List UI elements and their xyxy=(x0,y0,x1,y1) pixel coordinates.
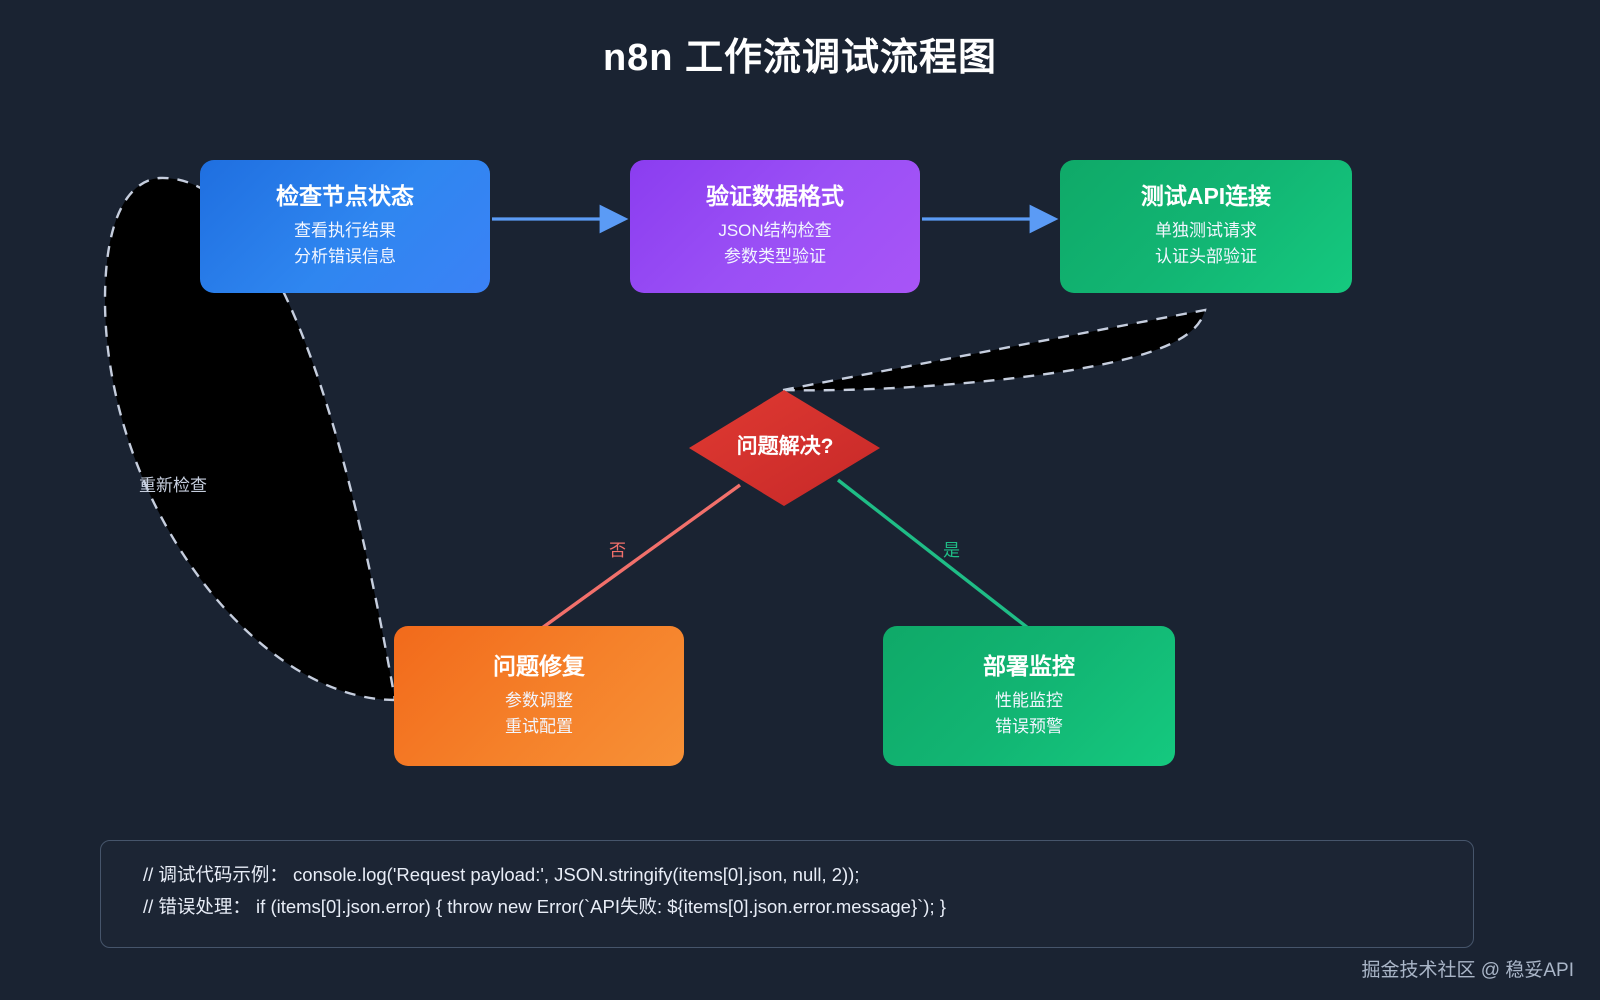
node-title: 测试API连接 xyxy=(1141,182,1271,211)
node-detail-line: 单独测试请求 xyxy=(1155,218,1257,244)
code-example-panel: // 调试代码示例： console.log('Request payload:… xyxy=(100,840,1474,948)
decision-diamond-label: 问题解决? xyxy=(690,430,880,460)
node-detail-line: 参数类型验证 xyxy=(724,244,826,270)
edge-yes-decision-to-deploy xyxy=(838,480,1028,628)
node-detail-line: 参数调整 xyxy=(505,688,573,714)
node-test-api-connection[interactable]: 测试API连接 单独测试请求 认证头部验证 xyxy=(1060,160,1352,293)
node-title: 检查节点状态 xyxy=(276,182,414,211)
edge-label-yes: 是 xyxy=(943,536,960,561)
edge-no-decision-to-fix xyxy=(542,485,740,628)
node-detail-line: 性能监控 xyxy=(995,688,1063,714)
node-detail-line: 重试配置 xyxy=(505,714,573,740)
edge-label-no: 否 xyxy=(609,536,626,561)
code-line-error-handling: // 错误处理： if (items[0].json.error) { thro… xyxy=(143,891,1431,923)
node-title: 问题修复 xyxy=(493,652,585,681)
node-check-node-status[interactable]: 检查节点状态 查看执行结果 分析错误信息 xyxy=(200,160,490,293)
node-detail-line: JSON结构检查 xyxy=(718,218,831,244)
node-validate-data-format[interactable]: 验证数据格式 JSON结构检查 参数类型验证 xyxy=(630,160,920,293)
edge-label-recheck: 重新检查 xyxy=(139,471,207,496)
watermark-text: 掘金技术社区 @ 稳妥API xyxy=(1362,955,1574,982)
node-title: 验证数据格式 xyxy=(706,182,844,211)
code-line-debug-example: // 调试代码示例： console.log('Request payload:… xyxy=(143,859,1431,891)
node-detail-line: 认证头部验证 xyxy=(1155,244,1257,270)
node-title: 部署监控 xyxy=(983,652,1075,681)
node-detail-line: 查看执行结果 xyxy=(294,218,396,244)
node-deploy-monitoring[interactable]: 部署监控 性能监控 错误预警 xyxy=(883,626,1175,766)
diagram-canvas: n8n 工作流调试流程图 检查节点状态 查看执行结果 分析错误信息 xyxy=(0,0,1600,1000)
node-detail-line: 分析错误信息 xyxy=(294,244,396,270)
node-problem-fix[interactable]: 问题修复 参数调整 重试配置 xyxy=(394,626,684,766)
node-detail-line: 错误预警 xyxy=(995,714,1063,740)
feedback-loop-right-path xyxy=(783,310,1205,390)
page-title: n8n 工作流调试流程图 xyxy=(0,26,1600,81)
